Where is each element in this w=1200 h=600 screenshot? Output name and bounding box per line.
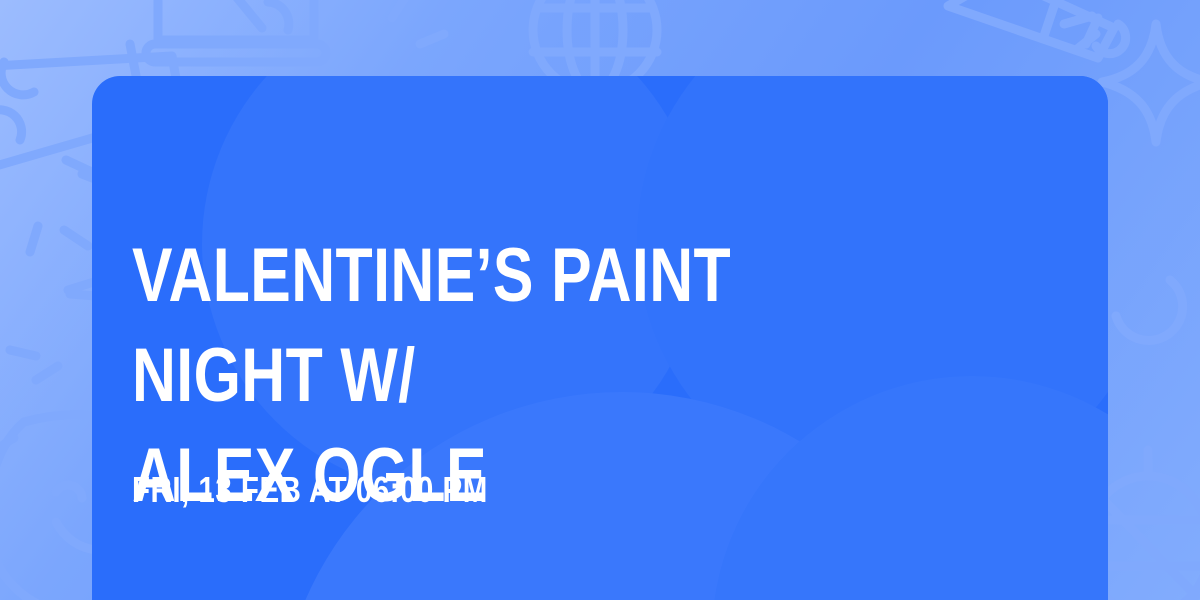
confetti-icon xyxy=(10,350,58,380)
sparkle-icon xyxy=(1102,24,1200,142)
sparkle-icon xyxy=(30,226,94,290)
event-card[interactable]: Valentine’s Paint Night w/ Alex Ogle Fri… xyxy=(92,76,1108,600)
event-banner: Valentine’s Paint Night w/ Alex Ogle Fri… xyxy=(0,0,1200,600)
balloon-icon xyxy=(1116,280,1183,340)
card-content: Valentine’s Paint Night w/ Alex Ogle Fri… xyxy=(132,76,1068,600)
banner-icon xyxy=(948,0,1126,58)
event-datetime: Fri, 13 Feb at 06:00 PM xyxy=(132,468,488,512)
